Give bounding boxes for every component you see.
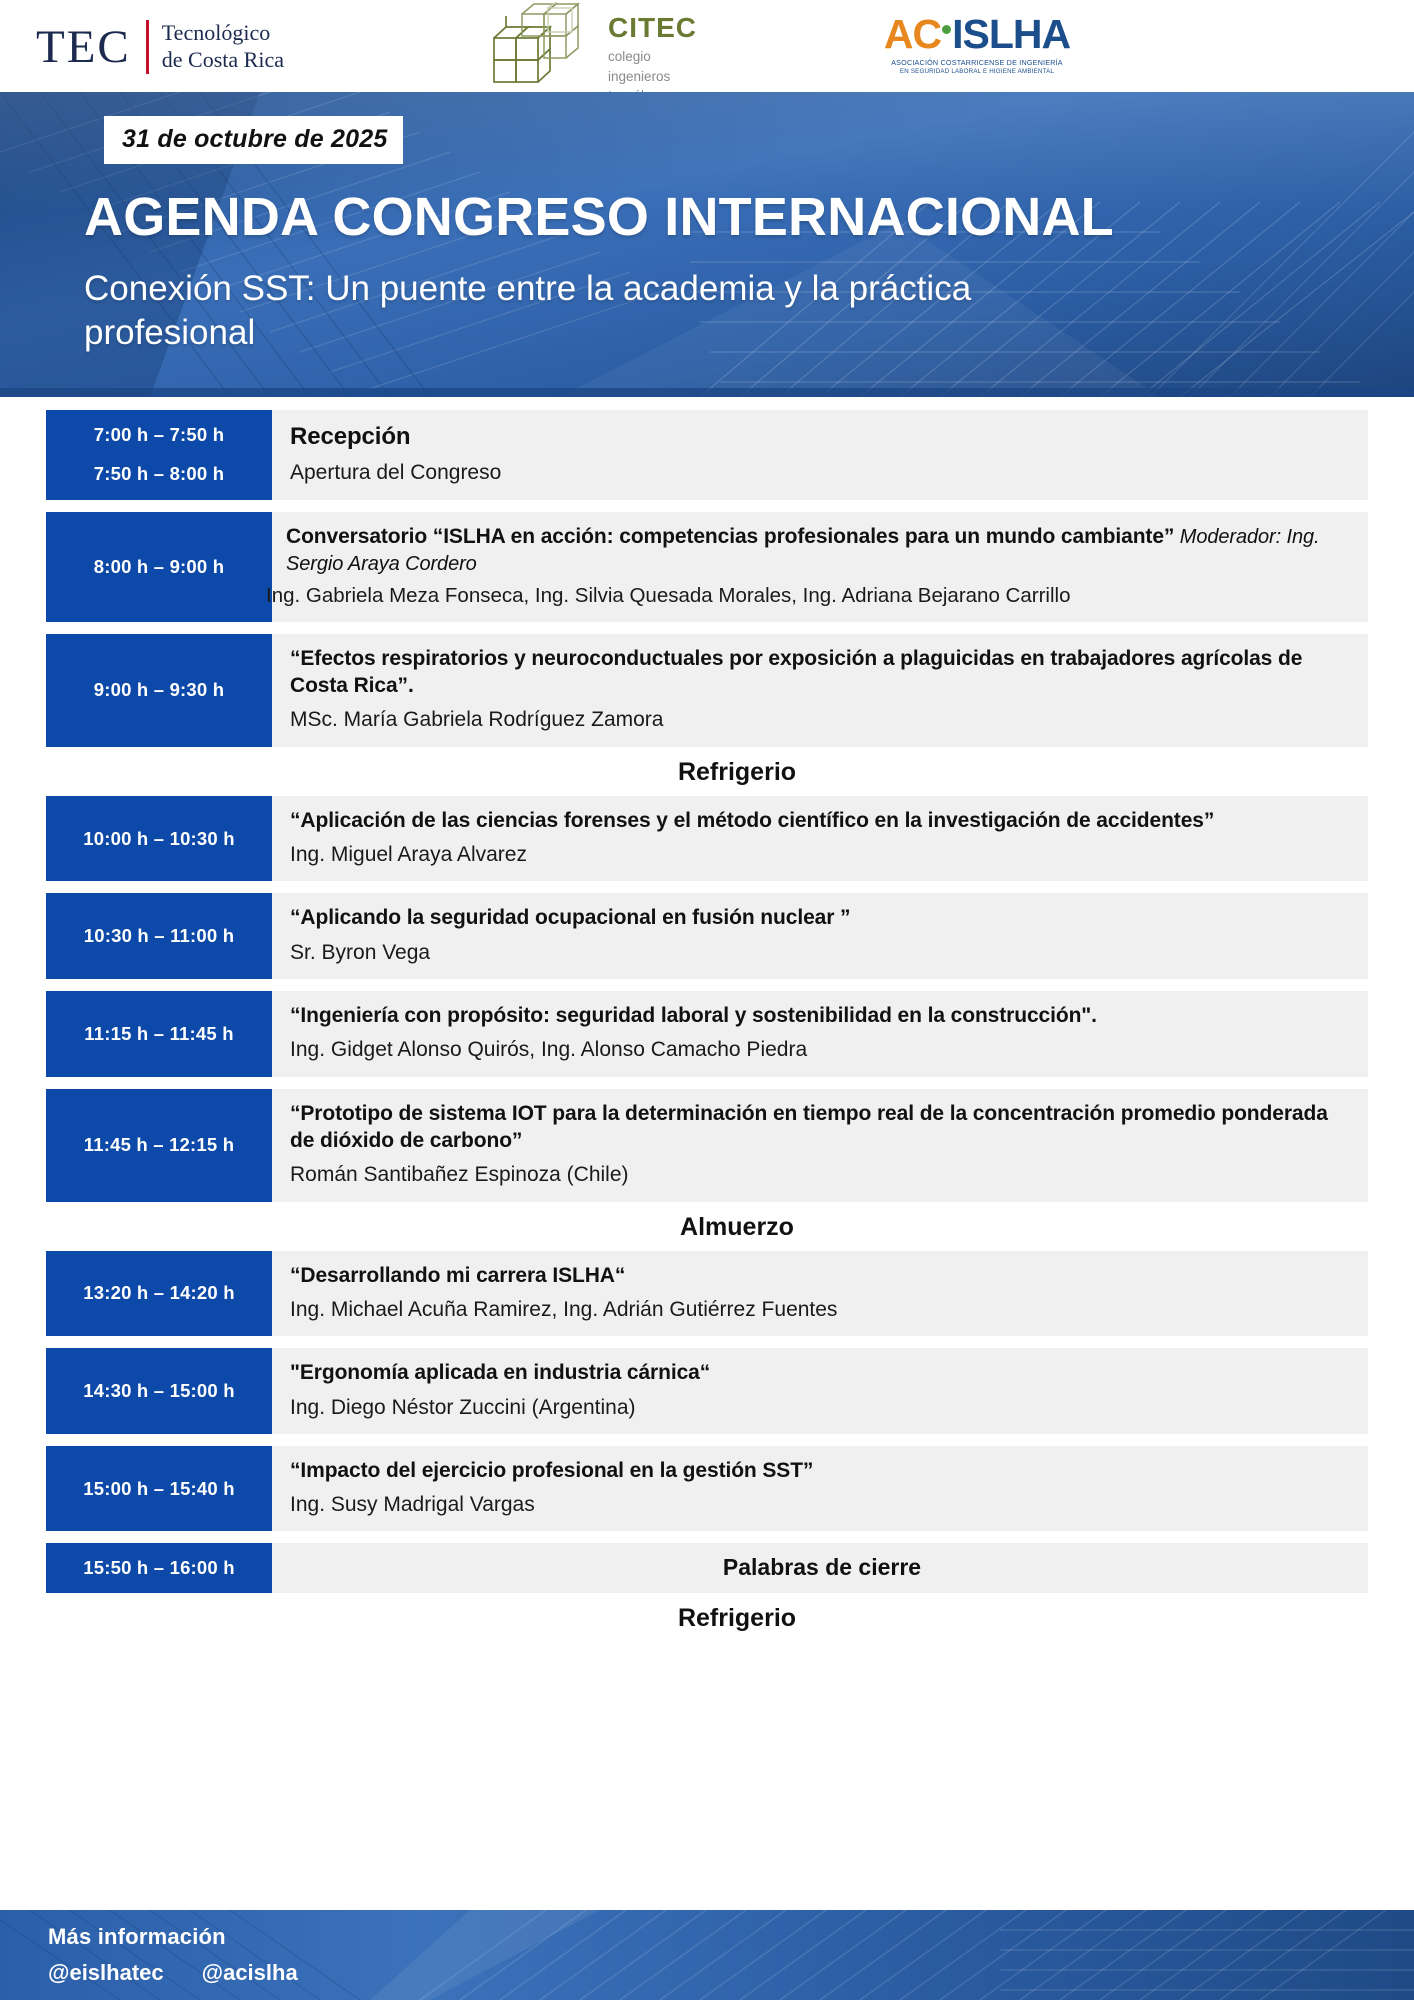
hero-banner: 31 de octubre de 2025 AGENDA CONGRESO IN… xyxy=(0,92,1414,397)
time-cell: 11:15 h – 11:45 h xyxy=(46,991,272,1077)
poster-page: TEC Tecnológico de Costa Rica xyxy=(0,0,1414,2000)
session-title: Recepción xyxy=(290,421,1354,452)
session-speaker: Román Santibañez Espinoza (Chile) xyxy=(290,1161,1354,1189)
acislha-letters-islha: ISLHA xyxy=(952,11,1070,57)
time-label: 10:00 h – 10:30 h xyxy=(83,828,234,850)
agenda-row: 10:30 h – 11:00 h “Aplicando la segurida… xyxy=(0,893,1414,979)
session-body: "Ergonomía aplicada en industria cárnica… xyxy=(272,1348,1368,1434)
agenda-row: 14:30 h – 15:00 h "Ergonomía aplicada en… xyxy=(0,1348,1414,1434)
session-title: "Ergonomía aplicada en industria cárnica… xyxy=(290,1359,1354,1386)
acislha-logo: ACISLHA ASOCIACIÓN COSTARRICENSE DE INGE… xyxy=(872,14,1082,75)
footer-content: Más información @eislhatec @acislha xyxy=(0,1910,1414,1986)
footer-banner: Más información @eislhatec @acislha xyxy=(0,1910,1414,2000)
session-speaker: Ing. Michael Acuña Ramirez, Ing. Adrián … xyxy=(290,1296,1354,1324)
agenda-row: 11:45 h – 12:15 h “Prototipo de sistema … xyxy=(0,1089,1414,1202)
tec-subtext: Tecnológico de Costa Rica xyxy=(162,20,284,74)
acislha-subtitle-line1: ASOCIACIÓN COSTARRICENSE DE INGENIERÍA xyxy=(872,58,1082,67)
citec-text: CITEC colegio ingenieros tecnólogos xyxy=(608,2,697,106)
agenda-break-row: Refrigerio xyxy=(0,747,1414,796)
session-title: “Prototipo de sistema IOT para la determ… xyxy=(290,1100,1354,1155)
time-label: 7:50 h – 8:00 h xyxy=(94,463,225,485)
session-speaker: Ing. Gidget Alonso Quirós, Ing. Alonso C… xyxy=(290,1036,1354,1064)
time-cell: 10:30 h – 11:00 h xyxy=(46,893,272,979)
session-title: “Aplicación de las ciencias forenses y e… xyxy=(290,807,1354,834)
time-label: 11:45 h – 12:15 h xyxy=(84,1134,234,1156)
time-cell: 8:00 h – 9:00 h xyxy=(46,512,272,622)
time-label: 14:30 h – 15:00 h xyxy=(83,1380,234,1402)
time-label: 15:50 h – 16:00 h xyxy=(83,1557,234,1579)
time-label: 13:20 h – 14:20 h xyxy=(83,1282,234,1304)
session-speaker: Ing. Susy Madrigal Vargas xyxy=(290,1491,1354,1519)
time-label: 15:00 h – 15:40 h xyxy=(83,1478,234,1500)
session-body: “Efectos respiratorios y neuroconductual… xyxy=(272,634,1368,747)
citec-word-colegio: colegio xyxy=(608,47,697,67)
agenda-row: 11:15 h – 11:45 h “Ingeniería con propós… xyxy=(0,991,1414,1077)
time-cell: 13:20 h – 14:20 h xyxy=(46,1251,272,1337)
citec-wordmark: CITEC xyxy=(608,14,697,42)
time-cell: 11:45 h – 12:15 h xyxy=(46,1089,272,1202)
agenda-row: 15:50 h – 16:00 h Palabras de cierre xyxy=(0,1543,1414,1593)
session-title: “Aplicando la seguridad ocupacional en f… xyxy=(290,904,1354,931)
time-cell: 15:50 h – 16:00 h xyxy=(46,1543,272,1593)
acislha-subtitle-line2: EN SEGURIDAD LABORAL E HIGIENE AMBIENTAL xyxy=(872,68,1082,75)
social-handle-eislhatec[interactable]: @eislhatec xyxy=(48,1960,164,1986)
agenda-list: 7:00 h – 7:50 h 7:50 h – 8:00 h Recepció… xyxy=(0,397,1414,1642)
social-handle-acislha[interactable]: @acislha xyxy=(202,1960,298,1986)
time-label: 11:15 h – 11:45 h xyxy=(84,1023,233,1045)
session-title: “Ingeniería con propósito: seguridad lab… xyxy=(290,1002,1354,1029)
session-body: Conversatorio “ISLHA en acción: competen… xyxy=(272,512,1368,622)
tec-divider-rule xyxy=(146,20,149,74)
session-body: “Impacto del ejercicio profesional en la… xyxy=(272,1446,1368,1532)
citec-word-ingenieros: ingenieros xyxy=(608,67,697,87)
tec-subtext-line2: de Costa Rica xyxy=(162,47,284,74)
session-body: “Prototipo de sistema IOT para la determ… xyxy=(272,1089,1368,1202)
agenda-row: 8:00 h – 9:00 h Conversatorio “ISLHA en … xyxy=(0,512,1414,622)
session-body: “Ingeniería con propósito: seguridad lab… xyxy=(272,991,1368,1077)
time-cell: 7:00 h – 7:50 h 7:50 h – 8:00 h xyxy=(46,410,272,500)
tec-wordmark: TEC xyxy=(36,24,131,71)
session-body: Recepción Apertura del Congreso xyxy=(272,410,1368,500)
agenda-break-row: Almuerzo xyxy=(0,1202,1414,1251)
time-cell: 15:00 h – 15:40 h xyxy=(46,1446,272,1532)
acislha-green-dot-icon xyxy=(942,25,951,34)
citec-cubes-icon xyxy=(488,2,600,94)
session-body: “Desarrollando mi carrera ISLHA“ Ing. Mi… xyxy=(272,1251,1368,1337)
agenda-row: 7:00 h – 7:50 h 7:50 h – 8:00 h Recepció… xyxy=(0,410,1414,500)
session-speaker: Apertura del Congreso xyxy=(290,459,1354,487)
time-label: 8:00 h – 9:00 h xyxy=(94,556,225,578)
page-subtitle: Conexión SST: Un puente entre la academi… xyxy=(84,267,984,357)
tec-logo: TEC Tecnológico de Costa Rica xyxy=(36,16,284,78)
session-title: Palabras de cierre xyxy=(290,1554,1354,1581)
session-speaker: Ing. Miguel Araya Alvarez xyxy=(290,841,1354,869)
acislha-letter-a: A xyxy=(884,11,913,57)
event-date-badge: 31 de octubre de 2025 xyxy=(104,116,403,164)
agenda-row: 10:00 h – 10:30 h “Aplicación de las cie… xyxy=(0,796,1414,882)
session-speaker: MSc. María Gabriela Rodríguez Zamora xyxy=(290,706,1354,734)
footer-title: Más información xyxy=(48,1924,1414,1950)
session-title: Conversatorio “ISLHA en acción: competen… xyxy=(286,523,1354,578)
agenda-row: 15:00 h – 15:40 h “Impacto del ejercicio… xyxy=(0,1446,1414,1532)
time-label: 9:00 h – 9:30 h xyxy=(94,679,225,701)
citec-logo: CITEC colegio ingenieros tecnólogos xyxy=(488,2,697,92)
hero-content: 31 de octubre de 2025 AGENDA CONGRESO IN… xyxy=(0,92,1414,356)
logo-bar: TEC Tecnológico de Costa Rica xyxy=(0,0,1414,92)
session-body: “Aplicando la seguridad ocupacional en f… xyxy=(272,893,1368,979)
footer-social-handles: @eislhatec @acislha xyxy=(48,1960,1414,1986)
page-title: AGENDA CONGRESO INTERNACIONAL xyxy=(84,189,1414,246)
agenda-row: 9:00 h – 9:30 h “Efectos respiratorios y… xyxy=(0,634,1414,747)
agenda-break-row: Refrigerio xyxy=(0,1593,1414,1642)
session-title: “Impacto del ejercicio profesional en la… xyxy=(290,1457,1354,1484)
time-label: 10:30 h – 11:00 h xyxy=(84,925,234,947)
acislha-letter-c: C xyxy=(913,11,942,57)
time-cell: 9:00 h – 9:30 h xyxy=(46,634,272,747)
session-title: “Desarrollando mi carrera ISLHA“ xyxy=(290,1262,1354,1289)
tec-subtext-line1: Tecnológico xyxy=(162,20,284,47)
session-body: “Aplicación de las ciencias forenses y e… xyxy=(272,796,1368,882)
agenda-row: 13:20 h – 14:20 h “Desarrollando mi carr… xyxy=(0,1251,1414,1337)
session-speaker: Ing. Diego Néstor Zuccini (Argentina) xyxy=(290,1394,1354,1422)
acislha-wordmark: ACISLHA xyxy=(872,14,1082,55)
time-cell: 10:00 h – 10:30 h xyxy=(46,796,272,882)
session-speaker: Sr. Byron Vega xyxy=(290,939,1354,967)
session-title-text: Conversatorio “ISLHA en acción: competen… xyxy=(286,525,1174,548)
session-speaker: Ing. Gabriela Meza Fonseca, Ing. Silvia … xyxy=(266,583,1354,610)
session-body: Palabras de cierre xyxy=(272,1543,1368,1593)
session-title: “Efectos respiratorios y neuroconductual… xyxy=(290,645,1354,700)
time-cell: 14:30 h – 15:00 h xyxy=(46,1348,272,1434)
time-label: 7:00 h – 7:50 h xyxy=(94,424,225,446)
